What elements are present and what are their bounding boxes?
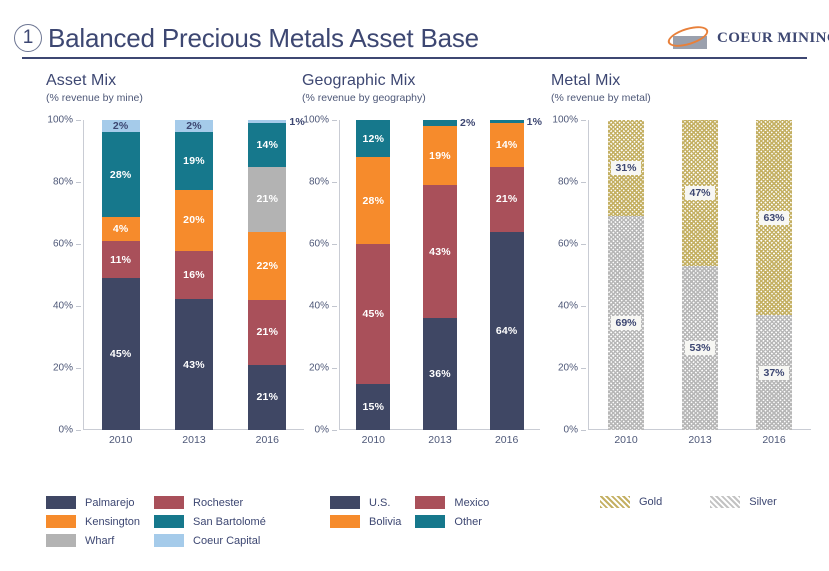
chart-panel-asset-mix: Asset Mix (% revenue by mine) 0% 20% 40%… xyxy=(40,72,310,460)
bar-group-2010[interactable]: 2% 28% 4% 11% 45% xyxy=(102,120,140,430)
legend-swatch-icon xyxy=(154,534,184,547)
x-tick-label: 2016 xyxy=(756,434,792,454)
bar-segment-san-bartolome[interactable]: 14% xyxy=(248,123,286,166)
legend-item[interactable]: Bolivia xyxy=(330,515,401,528)
y-tick: 20% xyxy=(558,363,578,374)
bar-group-2016[interactable]: 1% 14% 21% 64% xyxy=(490,120,524,430)
chart-title-geographic-mix: Geographic Mix xyxy=(302,72,546,90)
bar-segment-san-bartolome[interactable]: 28% xyxy=(102,132,140,217)
slide-number-badge: 1 xyxy=(14,24,42,52)
bar-segment-kensington[interactable]: 20% xyxy=(175,190,213,251)
bar-segment-bolivia[interactable]: 28% xyxy=(356,157,390,244)
legend-swatch-icon xyxy=(600,496,630,508)
legend-swatch-icon xyxy=(415,496,445,509)
y-tick: 60% xyxy=(53,239,73,250)
bar-segment-us[interactable]: 36% xyxy=(423,318,457,430)
bar-group-2016[interactable]: 63% 37% xyxy=(756,120,792,430)
slide-header: 1 Balanced Precious Metals Asset Base CO… xyxy=(0,0,829,62)
bar-segment-coeur-capital[interactable]: 2% xyxy=(102,120,140,132)
legend-swatch-icon xyxy=(154,515,184,528)
legend-geographic-mix: U.S. Mexico Bolivia Other xyxy=(330,496,489,528)
chart-subtitle-geographic-mix: (% revenue by geography) xyxy=(302,92,546,104)
x-tick-label: 2013 xyxy=(682,434,718,454)
bar-segment-palmarejo[interactable]: 43% xyxy=(175,299,213,430)
x-tick-label: 2016 xyxy=(248,434,286,454)
bar-segment-rochester[interactable]: 16% xyxy=(175,251,213,300)
y-tick: 40% xyxy=(558,301,578,312)
legend-swatch-icon xyxy=(330,496,360,509)
x-tick-label: 2013 xyxy=(175,434,213,454)
chart-panel-metal-mix: Metal Mix (% revenue by metal) 0% 20% 40… xyxy=(545,72,817,460)
bar-group-2013[interactable]: 47% 53% xyxy=(682,120,718,430)
x-tick-label: 2010 xyxy=(102,434,140,454)
y-tick: 0% xyxy=(564,425,578,436)
y-tick: 60% xyxy=(309,239,329,250)
chart-geographic-mix: 0% 20% 40% 60% 80% 100% 12% 28% xyxy=(296,112,546,460)
y-tick: 0% xyxy=(59,425,73,436)
bar-segment-mexico[interactable]: 21% xyxy=(490,167,524,232)
legend-item[interactable]: Rochester xyxy=(154,496,266,509)
legend-swatch-icon xyxy=(710,496,740,508)
legend-swatch-icon xyxy=(415,515,445,528)
bar-segment-silver[interactable]: 37% xyxy=(756,315,792,430)
bar-segment-palmarejo[interactable]: 21% xyxy=(248,365,286,430)
bar-group-2016[interactable]: 1% 14% 21% 22% 21% xyxy=(248,120,286,430)
y-tick: 100% xyxy=(47,115,73,126)
bar-segment-gold[interactable]: 31% xyxy=(608,120,644,216)
bar-segment-palmarejo[interactable]: 45% xyxy=(102,278,140,430)
bar-group-2013[interactable]: 2% 19% 43% 36% xyxy=(423,120,457,430)
legend-item[interactable]: Gold xyxy=(600,496,662,508)
x-tick-label: 2010 xyxy=(356,434,390,454)
company-logo: COEUR MINING® xyxy=(667,27,815,53)
bar-segment-mexico[interactable]: 45% xyxy=(356,244,390,384)
x-tick-label: 2010 xyxy=(608,434,644,454)
bar-segment-us[interactable]: 15% xyxy=(356,384,390,431)
bar-segment-kensington[interactable]: 22% xyxy=(248,232,286,300)
legend-metal-mix: Gold Silver xyxy=(600,496,811,508)
bar-segment-san-bartolome[interactable]: 19% xyxy=(175,132,213,190)
bar-segment-us[interactable]: 64% xyxy=(490,232,524,430)
legend-item[interactable]: San Bartolomé xyxy=(154,515,266,528)
chart-title-metal-mix: Metal Mix xyxy=(551,72,817,90)
y-tick: 20% xyxy=(53,363,73,374)
bar-segment-coeur-capital[interactable]: 2% xyxy=(175,120,213,132)
bar-segment-kensington[interactable]: 4% xyxy=(102,217,140,241)
y-tick: 0% xyxy=(315,425,329,436)
coeur-ellipse-logo-icon xyxy=(667,28,713,50)
bar-segment-bolivia[interactable]: 14% xyxy=(490,123,524,166)
y-axis-asset-mix: 0% 20% 40% 60% 80% 100% xyxy=(40,120,84,430)
y-tick: 100% xyxy=(303,115,329,126)
y-axis-geographic-mix: 0% 20% 40% 60% 80% 100% xyxy=(296,120,340,430)
x-axis-geographic-mix: 2010 2013 2016 xyxy=(340,434,540,454)
bar-segment-gold[interactable]: 47% xyxy=(682,120,718,266)
bar-segment-wharf[interactable]: 21% xyxy=(248,167,286,232)
bar-segment-rochester[interactable]: 21% xyxy=(248,300,286,365)
logo-wordmark: COEUR MINING xyxy=(717,30,829,46)
chart-panel-geographic-mix: Geographic Mix (% revenue by geography) … xyxy=(296,72,546,460)
bar-group-2010[interactable]: 12% 28% 45% 15% xyxy=(356,120,390,430)
y-tick: 100% xyxy=(552,115,578,126)
legend-item[interactable]: Kensington xyxy=(46,515,140,528)
legend-item[interactable]: Mexico xyxy=(415,496,489,509)
page-title: Balanced Precious Metals Asset Base xyxy=(48,22,479,54)
legend-swatch-icon xyxy=(154,496,184,509)
legend-item[interactable]: Coeur Capital xyxy=(154,534,266,547)
y-tick: 40% xyxy=(53,301,73,312)
x-axis-metal-mix: 2010 2013 2016 xyxy=(589,434,811,454)
y-axis-metal-mix: 0% 20% 40% 60% 80% 100% xyxy=(545,120,589,430)
x-tick-label: 2013 xyxy=(423,434,457,454)
legend-swatch-icon xyxy=(46,496,76,509)
y-tick: 60% xyxy=(558,239,578,250)
bar-segment-gold[interactable]: 63% xyxy=(756,120,792,315)
y-tick: 40% xyxy=(309,301,329,312)
bar-group-2010[interactable]: 31% 69% xyxy=(608,120,644,430)
bar-segment-bolivia[interactable]: 19% xyxy=(423,126,457,185)
legend-swatch-icon xyxy=(46,515,76,528)
chart-metal-mix: 0% 20% 40% 60% 80% 100% 31% 69% xyxy=(545,112,817,460)
bar-segment-other[interactable]: 12% xyxy=(356,120,390,157)
x-tick-label: 2016 xyxy=(490,434,524,454)
legend-asset-mix: Palmarejo Rochester Kensington San Barto… xyxy=(46,496,266,547)
chart-title-asset-mix: Asset Mix xyxy=(46,72,310,90)
x-axis-asset-mix: 2010 2013 2016 xyxy=(84,434,304,454)
legend-item[interactable]: Silver xyxy=(710,496,777,508)
bar-segment-silver[interactable]: 69% xyxy=(608,216,644,430)
legend-item[interactable]: U.S. xyxy=(330,496,401,509)
bar-group-2013[interactable]: 2% 19% 20% 16% 43% xyxy=(175,120,213,430)
legend-item[interactable]: Other xyxy=(415,515,489,528)
chart-subtitle-metal-mix: (% revenue by metal) xyxy=(551,92,817,104)
bar-segment-silver[interactable]: 53% xyxy=(682,266,718,430)
chart-asset-mix: 0% 20% 40% 60% 80% 100% 2% xyxy=(40,112,310,460)
legend-item[interactable]: Wharf xyxy=(46,534,140,547)
bar-segment-mexico[interactable]: 43% xyxy=(423,185,457,318)
legend-item[interactable]: Palmarejo xyxy=(46,496,140,509)
bar-segment-rochester[interactable]: 11% xyxy=(102,241,140,277)
y-tick: 80% xyxy=(53,177,73,188)
title-divider xyxy=(22,57,807,59)
y-tick: 80% xyxy=(309,177,329,188)
legend-swatch-icon xyxy=(330,515,360,528)
legend-swatch-icon xyxy=(46,534,76,547)
chart-subtitle-asset-mix: (% revenue by mine) xyxy=(46,92,310,104)
y-tick: 20% xyxy=(309,363,329,374)
y-tick: 80% xyxy=(558,177,578,188)
